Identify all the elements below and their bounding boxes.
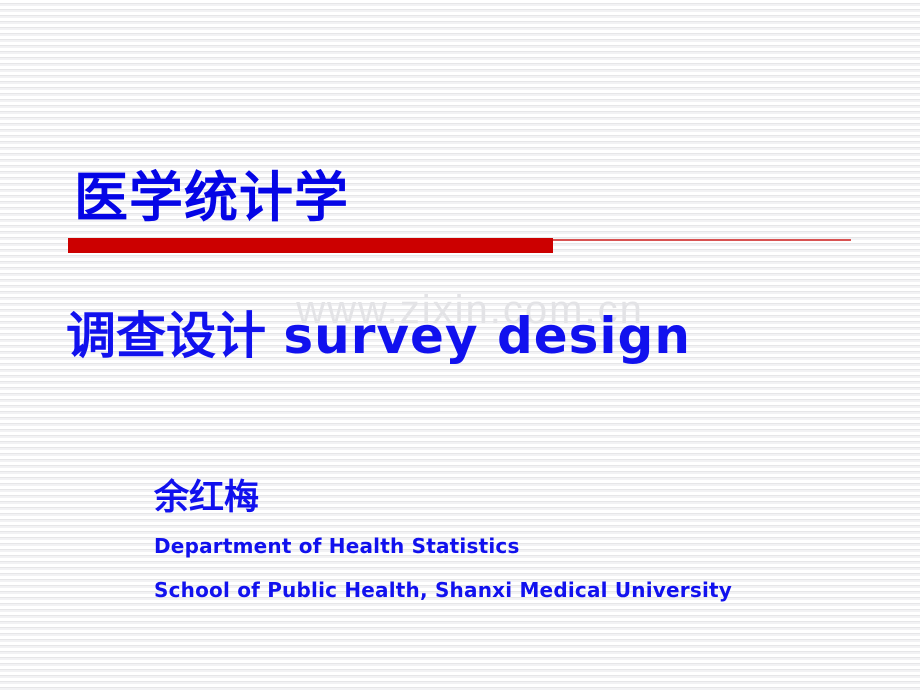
subtitle: 调查设计 survey design bbox=[66, 308, 691, 366]
presentation-slide: www.zixin.com.cn 医学统计学 调查设计 survey desig… bbox=[0, 0, 920, 690]
page-title: 医学统计学 bbox=[74, 168, 349, 227]
subtitle-space bbox=[266, 307, 283, 365]
subtitle-cjk: 调查设计 bbox=[66, 307, 266, 365]
author-name: 余红梅 bbox=[154, 478, 732, 518]
author-school: School of Public Health, Shanxi Medical … bbox=[154, 578, 732, 602]
subtitle-latin: survey design bbox=[283, 307, 691, 365]
author-block: 余红梅 Department of Health Statistics Scho… bbox=[154, 478, 732, 602]
divider-thick-bar bbox=[68, 238, 553, 253]
author-department: Department of Health Statistics bbox=[154, 534, 732, 558]
divider-thin-line bbox=[553, 239, 851, 241]
